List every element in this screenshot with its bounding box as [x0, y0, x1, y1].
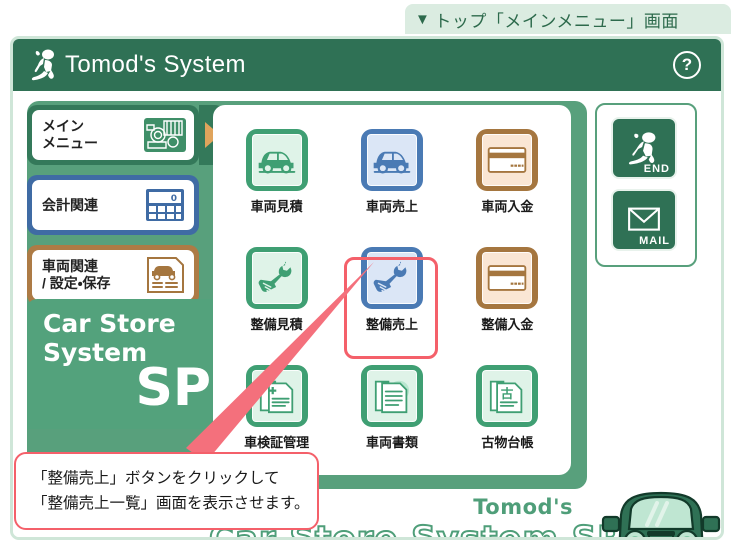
hand-wrench-icon	[252, 252, 302, 304]
menu-button-maintenance-payment[interactable]: 整備入金	[450, 231, 565, 349]
app-title: Tomod's System	[65, 51, 246, 79]
callout-box: 「整備売上」ボタンをクリックして 「整備売上一覧」画面を表示させます。	[14, 452, 319, 530]
calculator-icon: 0	[142, 185, 188, 225]
car-icon	[367, 134, 417, 186]
menu-button-label: 整備見積	[251, 314, 303, 333]
brand-sp: SP	[27, 363, 211, 413]
menu-button-vehicle-sales[interactable]: 車両売上	[334, 113, 449, 231]
sidebar-item-accounting[interactable]: 会計関連 0	[27, 175, 199, 235]
callout-line-1: 「整備売上」ボタンをクリックして	[32, 466, 317, 491]
callout-line-2: 「整備売上一覧」画面を表示させます。	[32, 491, 317, 516]
hand-wrench-icon	[367, 252, 417, 304]
sidebar-item-vehicle-settings[interactable]: 車両関連 / 設定・保存	[27, 245, 199, 305]
car-document-icon	[142, 255, 188, 295]
menu-button-maintenance-estimate[interactable]: 整備見積	[219, 231, 334, 349]
sidebar-item-label: メイン メニュー	[42, 118, 98, 152]
app-header: Tomod's System ?	[13, 39, 721, 91]
menu-button-inspection-cert[interactable]: 車検証管理	[219, 349, 334, 467]
side-action-panel: END MAIL	[595, 103, 697, 267]
end-button[interactable]: END	[611, 117, 677, 179]
menu-button-maintenance-sales[interactable]: 整備売上	[334, 231, 449, 349]
engine-icon	[142, 115, 188, 155]
mail-button[interactable]: MAIL	[611, 189, 677, 251]
top-banner-text: トップ「メインメニュー」画面	[434, 7, 679, 32]
document-plus-icon	[252, 370, 302, 422]
credit-card-icon	[482, 252, 532, 304]
brand-block: Car Store System SP	[27, 299, 225, 429]
sidebar-item-main-menu[interactable]: メイン メニュー	[27, 105, 199, 165]
bottom-brand-tomods: Tomod's	[473, 495, 573, 519]
menu-button-vehicle-payment[interactable]: 車両入金	[450, 113, 565, 231]
svg-text:古: 古	[501, 386, 514, 401]
documents-icon	[367, 370, 417, 422]
menu-button-label: 車両書類	[366, 432, 418, 451]
menu-button-vehicle-estimate[interactable]: 車両見積	[219, 113, 334, 231]
sidebar-item-label: 車両関連 / 設定・保存	[42, 258, 111, 292]
menu-button-label: 車両見積	[251, 196, 303, 215]
main-menu-panel: 車両見積	[213, 105, 571, 475]
mail-button-label: MAIL	[639, 235, 670, 247]
menu-button-antique-ledger[interactable]: 古 古物台帳	[450, 349, 565, 467]
menu-button-vehicle-documents[interactable]: 車両書類	[334, 349, 449, 467]
triangle-down-icon: ▼	[415, 11, 430, 28]
running-figure-logo-icon	[29, 48, 59, 82]
car-illustration	[591, 485, 724, 540]
menu-button-grid: 車両見積	[213, 105, 571, 475]
document-ko-icon: 古	[482, 370, 532, 422]
menu-button-label: 車検証管理	[244, 432, 309, 451]
sidebar: メイン メニュー	[27, 105, 207, 315]
menu-button-label: 整備売上	[366, 314, 418, 333]
sidebar-item-label: 会計関連	[42, 197, 98, 214]
menu-button-label: 古物台帳	[481, 432, 533, 451]
top-banner: ▼ トップ「メインメニュー」画面	[405, 4, 731, 34]
menu-button-label: 車両売上	[366, 196, 418, 215]
menu-button-label: 車両入金	[481, 196, 533, 215]
credit-card-icon	[482, 134, 532, 186]
svg-text:0: 0	[171, 194, 177, 204]
menu-button-label: 整備入金	[481, 314, 533, 333]
car-icon	[252, 134, 302, 186]
help-question-icon[interactable]: ?	[673, 51, 701, 79]
end-button-label: END	[644, 163, 670, 175]
brand-line-1: Car Store	[43, 309, 225, 338]
